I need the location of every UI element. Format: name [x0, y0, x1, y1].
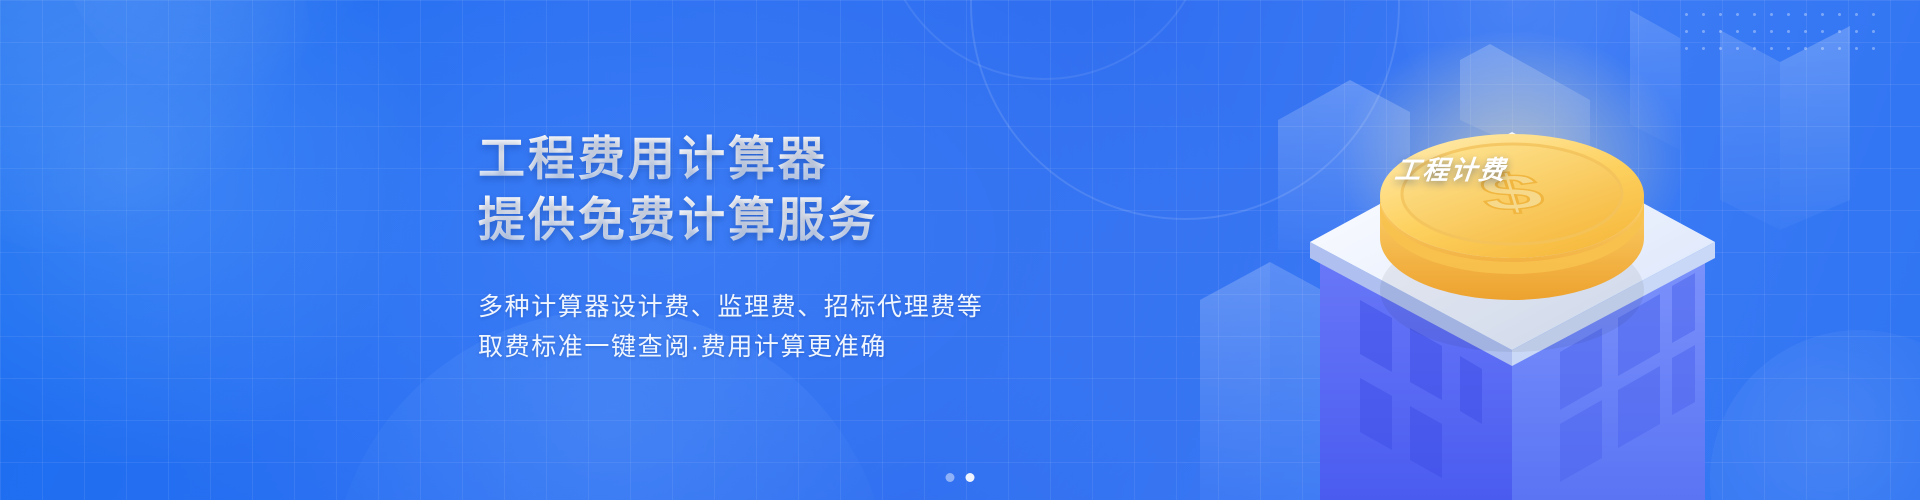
- carousel-dot-2[interactable]: [966, 473, 975, 482]
- isometric-illustration: $ 工程计费: [1160, 0, 1920, 500]
- badge-label: 工程计费: [1393, 150, 1509, 187]
- subtitle-line-2: 取费标准一键查阅·费用计算更准确: [478, 328, 1118, 368]
- headline-line-1: 工程费用计算器: [478, 128, 1118, 189]
- illustration-svg: $: [1160, 0, 1920, 500]
- banner-text-block: 工程费用计算器 提供免费计算服务 多种计算器设计费、监理费、招标代理费等 取费标…: [478, 128, 1118, 367]
- subtitle-line-1: 多种计算器设计费、监理费、招标代理费等: [478, 288, 1118, 328]
- carousel-dots[interactable]: [946, 473, 975, 482]
- headline-line-2: 提供免费计算服务: [478, 189, 1118, 250]
- subtitle-block: 多种计算器设计费、监理费、招标代理费等 取费标准一键查阅·费用计算更准确: [478, 288, 1118, 367]
- carousel-dot-1[interactable]: [946, 473, 955, 482]
- promo-banner: $ 工程计费 工程费用计算器 提供免费计算服务 多种计算器设计费、监理费、招标代…: [0, 0, 1920, 500]
